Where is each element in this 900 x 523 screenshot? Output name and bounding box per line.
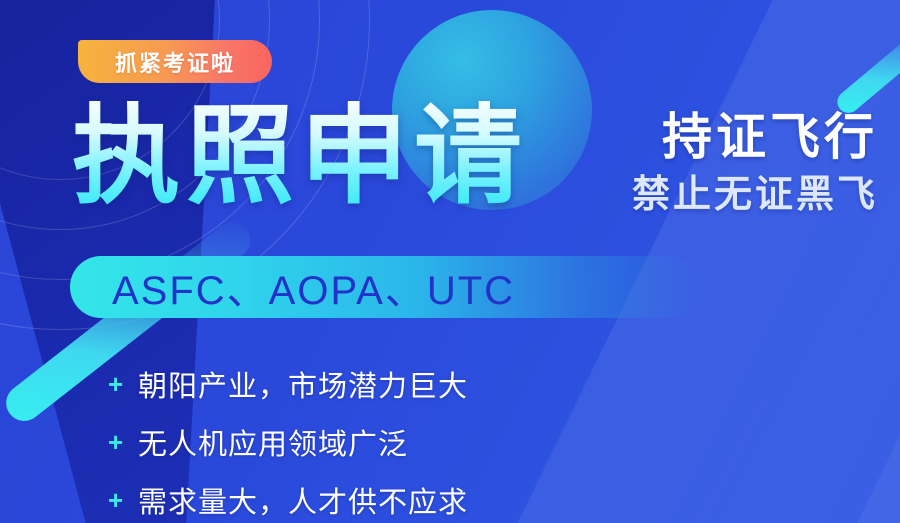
- headline-title: 执照申请: [72, 101, 528, 211]
- plus-icon: +: [108, 371, 138, 397]
- list-item-label: 无人机应用领域广泛: [138, 421, 408, 463]
- promo-badge: 抓紧考证啦: [78, 40, 272, 83]
- certifications-pill: ASFC、AOPA、UTC: [70, 256, 700, 318]
- list-item: + 无人机应用领域广泛: [108, 416, 468, 468]
- list-item-label: 朝阳产业，市场潜力巨大: [138, 363, 468, 405]
- feature-bullet-list: + 朝阳产业，市场潜力巨大 + 无人机应用领域广泛 + 需求量大，人才供不应求: [108, 358, 468, 523]
- list-item: + 需求量大，人才供不应求: [108, 474, 468, 523]
- plus-icon: +: [108, 487, 138, 513]
- list-item: + 朝阳产业，市场潜力巨大: [108, 358, 468, 410]
- tagline-primary: 持证飞行: [632, 108, 878, 167]
- right-tagline-group: 持证飞行 禁止无证黑飞: [632, 108, 878, 220]
- list-item-label: 需求量大，人才供不应求: [138, 479, 468, 521]
- cyan-streak-upper-right: [833, 11, 900, 118]
- certifications-label: ASFC、AOPA、UTC: [112, 258, 515, 316]
- tagline-secondary: 禁止无证黑飞: [632, 171, 878, 220]
- promo-banner: 抓紧考证啦 执照申请 持证飞行 禁止无证黑飞 ASFC、AOPA、UTC + 朝…: [0, 0, 900, 523]
- plus-icon: +: [108, 429, 138, 455]
